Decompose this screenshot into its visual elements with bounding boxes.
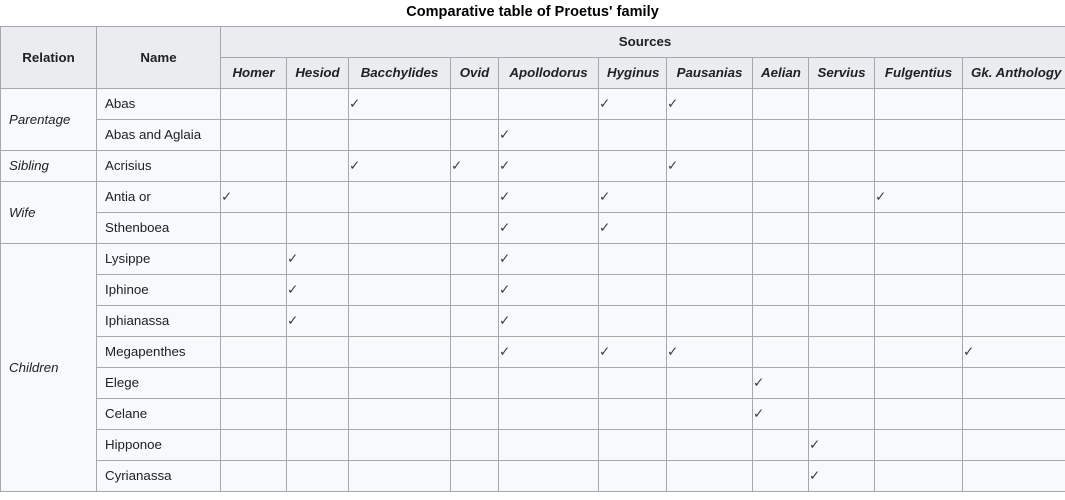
source-empty-cell: ✓	[667, 275, 753, 306]
source-empty-cell: ✓	[499, 461, 599, 492]
source-empty-cell: ✓	[221, 275, 287, 306]
source-empty-cell: ✓	[287, 182, 349, 213]
source-empty-cell: ✓	[667, 461, 753, 492]
source-empty-cell: ✓	[287, 461, 349, 492]
source-empty-cell: ✓	[875, 244, 963, 275]
check-icon: ✓	[875, 190, 886, 204]
name-cell: Abas and Aglaia	[97, 120, 221, 151]
source-check-cell: ✓	[667, 337, 753, 368]
table-head: Relation Name Sources HomerHesiodBacchyl…	[1, 27, 1065, 89]
column-header-source: Servius	[809, 58, 875, 89]
source-empty-cell: ✓	[753, 213, 809, 244]
source-empty-cell: ✓	[451, 306, 499, 337]
name-cell: Iphinoe	[97, 275, 221, 306]
source-empty-cell: ✓	[451, 368, 499, 399]
source-check-cell: ✓	[499, 337, 599, 368]
check-icon: ✓	[499, 283, 510, 297]
source-check-cell: ✓	[499, 306, 599, 337]
source-check-cell: ✓	[499, 151, 599, 182]
source-empty-cell: ✓	[809, 368, 875, 399]
source-check-cell: ✓	[875, 182, 963, 213]
table-row: Sthenboea✓✓✓✓✓✓✓✓✓✓✓	[1, 213, 1065, 244]
source-empty-cell: ✓	[875, 275, 963, 306]
table-row: Hipponoe✓✓✓✓✓✓✓✓✓✓✓	[1, 430, 1065, 461]
source-empty-cell: ✓	[963, 120, 1065, 151]
source-empty-cell: ✓	[753, 120, 809, 151]
source-empty-cell: ✓	[753, 89, 809, 120]
source-empty-cell: ✓	[963, 430, 1065, 461]
source-empty-cell: ✓	[667, 182, 753, 213]
check-icon: ✓	[753, 376, 764, 390]
source-check-cell: ✓	[809, 430, 875, 461]
check-icon: ✓	[667, 345, 678, 359]
table-row: Iphianassa✓✓✓✓✓✓✓✓✓✓✓	[1, 306, 1065, 337]
source-check-cell: ✓	[963, 337, 1065, 368]
source-check-cell: ✓	[287, 275, 349, 306]
source-empty-cell: ✓	[499, 399, 599, 430]
source-empty-cell: ✓	[753, 337, 809, 368]
name-cell: Cyrianassa	[97, 461, 221, 492]
source-empty-cell: ✓	[667, 244, 753, 275]
source-empty-cell: ✓	[875, 89, 963, 120]
table-row: Megapenthes✓✓✓✓✓✓✓✓✓✓✓	[1, 337, 1065, 368]
source-empty-cell: ✓	[287, 213, 349, 244]
source-empty-cell: ✓	[287, 399, 349, 430]
relation-cell: Wife	[1, 182, 97, 244]
source-empty-cell: ✓	[451, 244, 499, 275]
column-header-name: Name	[97, 27, 221, 89]
source-empty-cell: ✓	[809, 244, 875, 275]
source-empty-cell: ✓	[963, 244, 1065, 275]
source-empty-cell: ✓	[875, 399, 963, 430]
source-empty-cell: ✓	[809, 182, 875, 213]
table-row: WifeAntia or✓✓✓✓✓✓✓✓✓✓✓	[1, 182, 1065, 213]
check-icon: ✓	[451, 159, 462, 173]
source-empty-cell: ✓	[875, 120, 963, 151]
source-empty-cell: ✓	[963, 399, 1065, 430]
source-check-cell: ✓	[599, 337, 667, 368]
source-empty-cell: ✓	[451, 430, 499, 461]
table-row: ParentageAbas✓✓✓✓✓✓✓✓✓✓✓	[1, 89, 1065, 120]
source-empty-cell: ✓	[963, 213, 1065, 244]
source-empty-cell: ✓	[963, 461, 1065, 492]
name-cell: Lysippe	[97, 244, 221, 275]
source-empty-cell: ✓	[349, 306, 451, 337]
source-check-cell: ✓	[287, 244, 349, 275]
source-empty-cell: ✓	[667, 306, 753, 337]
source-empty-cell: ✓	[753, 275, 809, 306]
source-check-cell: ✓	[753, 399, 809, 430]
source-empty-cell: ✓	[753, 430, 809, 461]
source-empty-cell: ✓	[221, 120, 287, 151]
source-empty-cell: ✓	[753, 306, 809, 337]
check-icon: ✓	[287, 314, 298, 328]
source-empty-cell: ✓	[451, 275, 499, 306]
column-header-source: Gk. Anthology	[963, 58, 1065, 89]
source-empty-cell: ✓	[349, 182, 451, 213]
source-empty-cell: ✓	[599, 306, 667, 337]
source-empty-cell: ✓	[349, 399, 451, 430]
source-empty-cell: ✓	[287, 120, 349, 151]
column-header-source: Hesiod	[287, 58, 349, 89]
relation-cell: Sibling	[1, 151, 97, 182]
source-check-cell: ✓	[667, 151, 753, 182]
column-header-source: Hyginus	[599, 58, 667, 89]
name-cell: Celane	[97, 399, 221, 430]
check-icon: ✓	[221, 190, 232, 204]
source-empty-cell: ✓	[963, 89, 1065, 120]
check-icon: ✓	[287, 283, 298, 297]
source-empty-cell: ✓	[875, 368, 963, 399]
source-empty-cell: ✓	[963, 306, 1065, 337]
column-header-source: Ovid	[451, 58, 499, 89]
source-check-cell: ✓	[221, 182, 287, 213]
column-header-source: Fulgentius	[875, 58, 963, 89]
check-icon: ✓	[599, 345, 610, 359]
source-empty-cell: ✓	[287, 151, 349, 182]
name-cell: Acrisius	[97, 151, 221, 182]
source-empty-cell: ✓	[221, 213, 287, 244]
source-empty-cell: ✓	[349, 244, 451, 275]
source-empty-cell: ✓	[875, 306, 963, 337]
source-empty-cell: ✓	[287, 368, 349, 399]
source-empty-cell: ✓	[599, 430, 667, 461]
name-cell: Megapenthes	[97, 337, 221, 368]
source-empty-cell: ✓	[349, 120, 451, 151]
source-empty-cell: ✓	[221, 368, 287, 399]
check-icon: ✓	[499, 345, 510, 359]
source-empty-cell: ✓	[667, 399, 753, 430]
source-empty-cell: ✓	[451, 120, 499, 151]
source-empty-cell: ✓	[221, 89, 287, 120]
source-empty-cell: ✓	[753, 182, 809, 213]
relation-cell: Parentage	[1, 89, 97, 151]
source-empty-cell: ✓	[599, 151, 667, 182]
name-cell: Abas	[97, 89, 221, 120]
check-icon: ✓	[499, 314, 510, 328]
source-empty-cell: ✓	[875, 213, 963, 244]
table-row: Elege✓✓✓✓✓✓✓✓✓✓✓	[1, 368, 1065, 399]
source-check-cell: ✓	[287, 306, 349, 337]
source-empty-cell: ✓	[499, 430, 599, 461]
source-check-cell: ✓	[451, 151, 499, 182]
source-empty-cell: ✓	[451, 337, 499, 368]
source-empty-cell: ✓	[875, 151, 963, 182]
column-header-relation: Relation	[1, 27, 97, 89]
source-empty-cell: ✓	[221, 151, 287, 182]
source-check-cell: ✓	[499, 182, 599, 213]
column-header-source: Bacchylides	[349, 58, 451, 89]
source-empty-cell: ✓	[599, 461, 667, 492]
check-icon: ✓	[963, 345, 974, 359]
source-empty-cell: ✓	[221, 461, 287, 492]
name-cell: Sthenboea	[97, 213, 221, 244]
table-caption: Comparative table of Proetus' family	[0, 0, 1065, 26]
source-check-cell: ✓	[349, 151, 451, 182]
source-empty-cell: ✓	[809, 337, 875, 368]
column-header-source: Pausanias	[667, 58, 753, 89]
source-empty-cell: ✓	[451, 399, 499, 430]
source-empty-cell: ✓	[753, 461, 809, 492]
header-row-group: Relation Name Sources	[1, 27, 1065, 58]
source-empty-cell: ✓	[809, 120, 875, 151]
table-row: Cyrianassa✓✓✓✓✓✓✓✓✓✓✓	[1, 461, 1065, 492]
source-empty-cell: ✓	[963, 275, 1065, 306]
check-icon: ✓	[599, 97, 610, 111]
check-icon: ✓	[499, 252, 510, 266]
source-check-cell: ✓	[753, 368, 809, 399]
column-header-source: Apollodorus	[499, 58, 599, 89]
column-header-source: Aelian	[753, 58, 809, 89]
source-empty-cell: ✓	[809, 151, 875, 182]
source-check-cell: ✓	[499, 275, 599, 306]
source-empty-cell: ✓	[809, 275, 875, 306]
source-empty-cell: ✓	[499, 89, 599, 120]
page-root: Comparative table of Proetus' family Rel…	[0, 0, 1065, 500]
source-check-cell: ✓	[667, 89, 753, 120]
column-header-source: Homer	[221, 58, 287, 89]
source-empty-cell: ✓	[349, 213, 451, 244]
check-icon: ✓	[287, 252, 298, 266]
source-empty-cell: ✓	[753, 151, 809, 182]
table-row: SiblingAcrisius✓✓✓✓✓✓✓✓✓✓✓	[1, 151, 1065, 182]
source-empty-cell: ✓	[809, 213, 875, 244]
source-empty-cell: ✓	[599, 275, 667, 306]
check-icon: ✓	[599, 190, 610, 204]
source-empty-cell: ✓	[753, 244, 809, 275]
source-empty-cell: ✓	[349, 337, 451, 368]
source-check-cell: ✓	[499, 120, 599, 151]
source-check-cell: ✓	[599, 182, 667, 213]
source-check-cell: ✓	[499, 213, 599, 244]
name-cell: Antia or	[97, 182, 221, 213]
table-row: Celane✓✓✓✓✓✓✓✓✓✓✓	[1, 399, 1065, 430]
table-body: ParentageAbas✓✓✓✓✓✓✓✓✓✓✓Abas and Aglaia✓…	[1, 89, 1065, 492]
name-cell: Iphianassa	[97, 306, 221, 337]
check-icon: ✓	[753, 407, 764, 421]
source-empty-cell: ✓	[451, 89, 499, 120]
table-row: ChildrenLysippe✓✓✓✓✓✓✓✓✓✓✓	[1, 244, 1065, 275]
source-empty-cell: ✓	[809, 399, 875, 430]
source-empty-cell: ✓	[667, 213, 753, 244]
table-row: Iphinoe✓✓✓✓✓✓✓✓✓✓✓	[1, 275, 1065, 306]
source-empty-cell: ✓	[809, 89, 875, 120]
source-empty-cell: ✓	[349, 430, 451, 461]
source-empty-cell: ✓	[599, 120, 667, 151]
source-empty-cell: ✓	[963, 151, 1065, 182]
source-check-cell: ✓	[599, 89, 667, 120]
source-empty-cell: ✓	[349, 368, 451, 399]
source-check-cell: ✓	[499, 244, 599, 275]
source-empty-cell: ✓	[875, 337, 963, 368]
check-icon: ✓	[349, 159, 360, 173]
source-empty-cell: ✓	[287, 430, 349, 461]
check-icon: ✓	[499, 128, 510, 142]
source-empty-cell: ✓	[221, 244, 287, 275]
check-icon: ✓	[499, 190, 510, 204]
source-empty-cell: ✓	[349, 461, 451, 492]
source-check-cell: ✓	[809, 461, 875, 492]
source-empty-cell: ✓	[349, 275, 451, 306]
check-icon: ✓	[499, 159, 510, 173]
check-icon: ✓	[349, 97, 360, 111]
check-icon: ✓	[809, 438, 820, 452]
source-empty-cell: ✓	[599, 244, 667, 275]
source-empty-cell: ✓	[667, 120, 753, 151]
name-cell: Elege	[97, 368, 221, 399]
source-empty-cell: ✓	[599, 368, 667, 399]
source-check-cell: ✓	[349, 89, 451, 120]
source-empty-cell: ✓	[599, 399, 667, 430]
name-cell: Hipponoe	[97, 430, 221, 461]
source-empty-cell: ✓	[287, 337, 349, 368]
source-empty-cell: ✓	[499, 368, 599, 399]
check-icon: ✓	[667, 97, 678, 111]
check-icon: ✓	[499, 221, 510, 235]
relation-cell: Children	[1, 244, 97, 492]
source-empty-cell: ✓	[221, 306, 287, 337]
source-empty-cell: ✓	[963, 182, 1065, 213]
source-empty-cell: ✓	[667, 430, 753, 461]
source-empty-cell: ✓	[963, 368, 1065, 399]
source-empty-cell: ✓	[809, 306, 875, 337]
source-empty-cell: ✓	[221, 399, 287, 430]
check-icon: ✓	[667, 159, 678, 173]
column-header-sources-group: Sources	[221, 27, 1065, 58]
source-empty-cell: ✓	[667, 368, 753, 399]
source-check-cell: ✓	[599, 213, 667, 244]
check-icon: ✓	[809, 469, 820, 483]
source-empty-cell: ✓	[875, 461, 963, 492]
check-icon: ✓	[599, 221, 610, 235]
source-empty-cell: ✓	[287, 89, 349, 120]
source-empty-cell: ✓	[875, 430, 963, 461]
source-empty-cell: ✓	[221, 337, 287, 368]
table-row: Abas and Aglaia✓✓✓✓✓✓✓✓✓✓✓	[1, 120, 1065, 151]
source-empty-cell: ✓	[451, 461, 499, 492]
comparative-family-table: Relation Name Sources HomerHesiodBacchyl…	[0, 26, 1065, 492]
source-empty-cell: ✓	[451, 213, 499, 244]
source-empty-cell: ✓	[221, 430, 287, 461]
source-empty-cell: ✓	[451, 182, 499, 213]
